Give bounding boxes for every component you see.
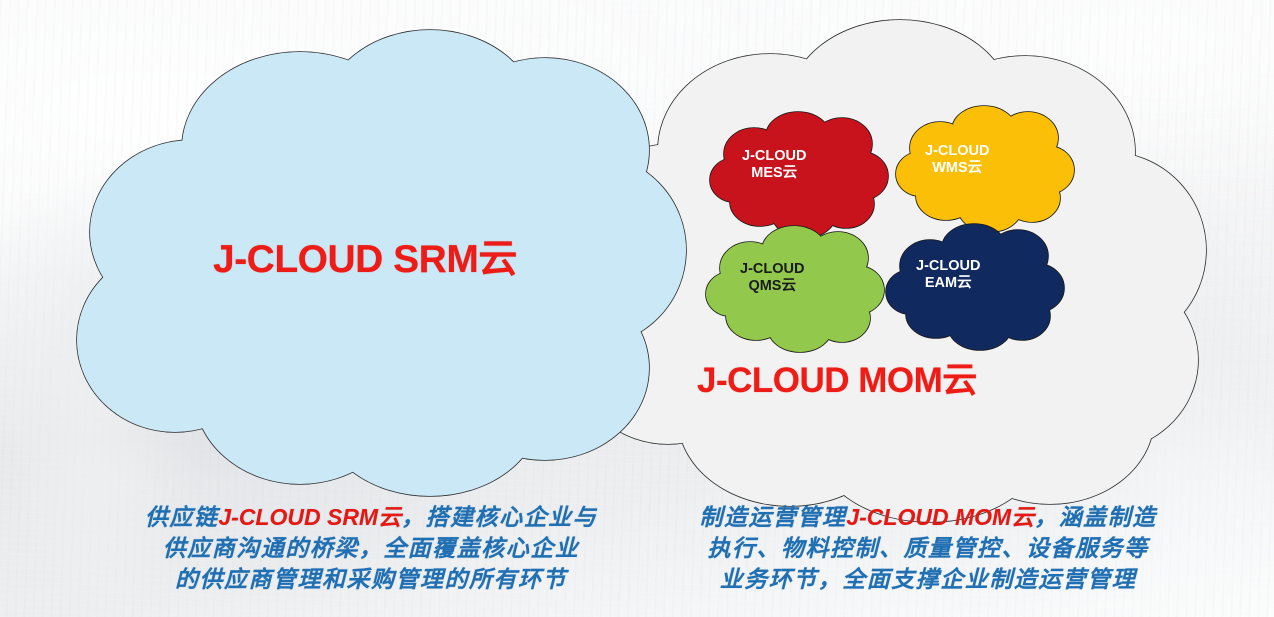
mom-cloud-title: J-CLOUD MOM云 xyxy=(697,352,977,403)
mes-label-line1: J-CLOUD xyxy=(742,148,806,165)
mom-caption-line2: 执行、物料控制、质量管控、设备服务等 xyxy=(648,533,1208,564)
eam-label-line2: EAM云 xyxy=(916,275,980,292)
eam-label-line1: J-CLOUD xyxy=(916,258,980,275)
srm-caption-line3: 的供应商管理和采购管理的所有环节 xyxy=(104,564,638,595)
qms-label-line2: QMS云 xyxy=(740,278,804,295)
mes-label-line2: MES云 xyxy=(742,165,806,182)
srm-caption-emphasis: J-CLOUD SRM云 xyxy=(218,504,401,530)
srm-cloud-title: J-CLOUD SRM云 xyxy=(213,228,517,284)
mom-caption-emphasis: J-CLOUD MOM云 xyxy=(846,504,1034,530)
qms-label-line1: J-CLOUD xyxy=(740,261,804,278)
mom-caption-prefix: 制造运营管理 xyxy=(699,505,846,530)
srm-caption: 供应链J-CLOUD SRM云，搭建核心企业与 供应商沟通的桥梁，全面覆盖核心企… xyxy=(104,502,638,595)
srm-caption-line2: 供应商沟通的桥梁，全面覆盖核心企业 xyxy=(104,533,638,564)
mes-module-label: J-CLOUD MES云 xyxy=(742,148,806,182)
mom-caption-line1-rest: ，涵盖制造 xyxy=(1034,505,1157,530)
srm-caption-prefix: 供应链 xyxy=(145,505,219,530)
mom-caption: 制造运营管理J-CLOUD MOM云，涵盖制造 执行、物料控制、质量管控、设备服… xyxy=(648,502,1208,595)
wms-module-label: J-CLOUD WMS云 xyxy=(925,143,989,177)
mom-caption-line1: 制造运营管理J-CLOUD MOM云，涵盖制造 xyxy=(648,502,1208,533)
srm-caption-line1-rest: ，搭建核心企业与 xyxy=(401,505,597,530)
slide-canvas: J-CLOUD SRM云 J-CLOUD MOM云 J-CLOUD MES云 J… xyxy=(0,0,1274,617)
mom-caption-line3: 业务环节，全面支撑企业制造运营管理 xyxy=(648,564,1208,595)
eam-module-label: J-CLOUD EAM云 xyxy=(916,258,980,292)
qms-module-label: J-CLOUD QMS云 xyxy=(740,261,804,295)
wms-label-line2: WMS云 xyxy=(925,160,989,177)
wms-label-line1: J-CLOUD xyxy=(925,143,989,160)
srm-caption-line1: 供应链J-CLOUD SRM云，搭建核心企业与 xyxy=(104,502,638,533)
